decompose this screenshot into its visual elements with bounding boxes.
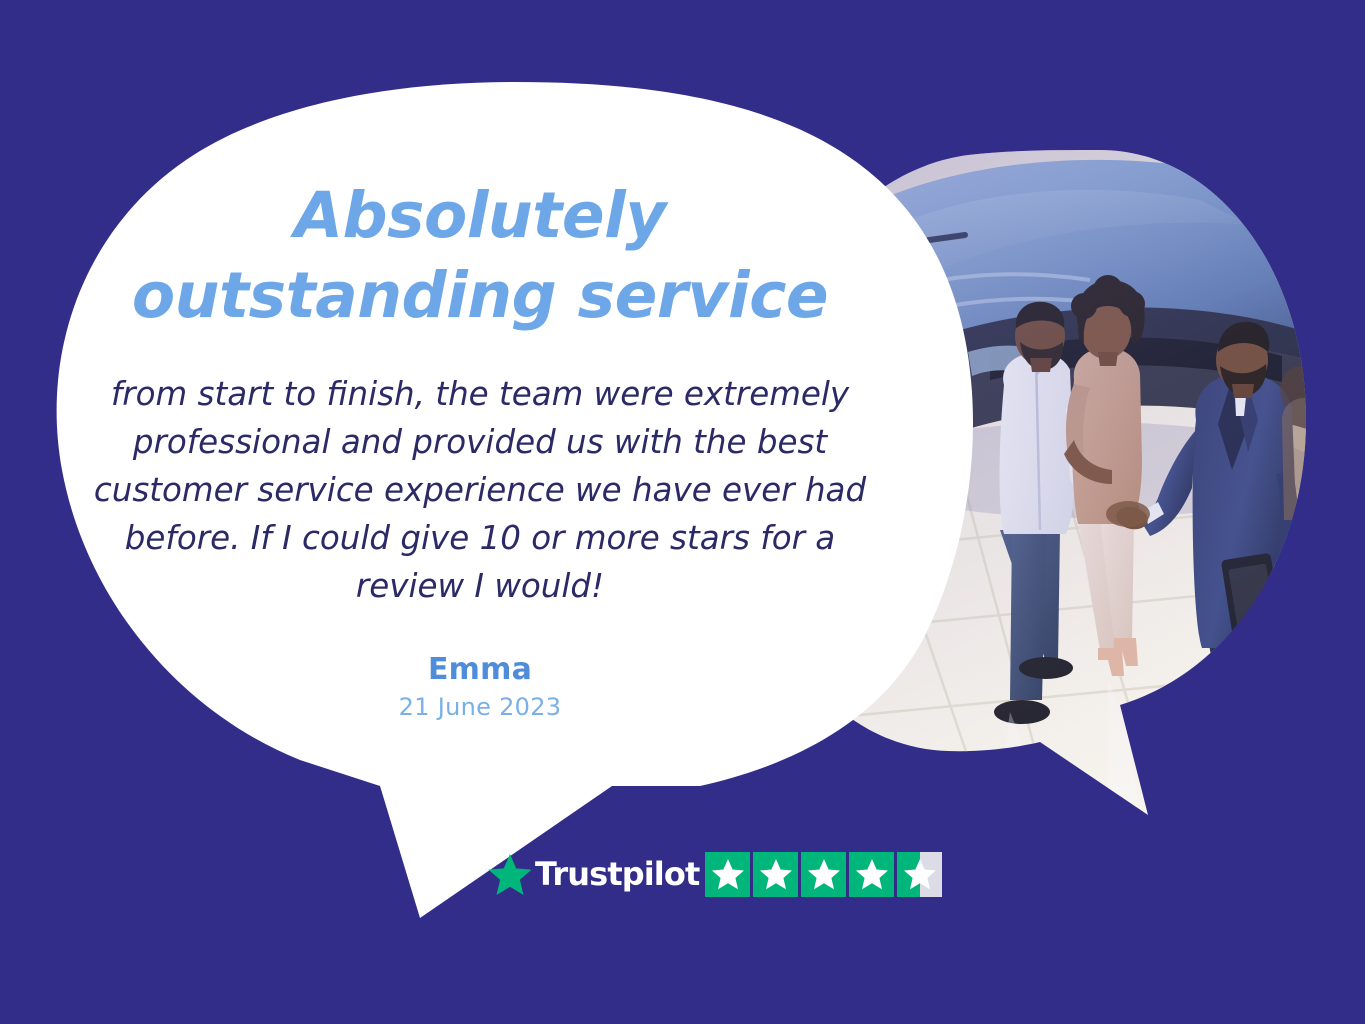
- review-body-text: from start to finish, the team were extr…: [85, 370, 875, 610]
- review-testimonial-graphic: Absolutely outstanding service from star…: [0, 0, 1365, 1024]
- trustpilot-star-3[interactable]: [801, 852, 846, 897]
- trustpilot-star-icon: [487, 852, 533, 896]
- review-date: 21 June 2023: [70, 692, 890, 722]
- trustpilot-logo[interactable]: Trustpilot: [487, 849, 699, 899]
- trustpilot-star-4[interactable]: [849, 852, 894, 897]
- review-headline: Absolutely outstanding service: [100, 176, 860, 336]
- trustpilot-star-5-half[interactable]: [897, 852, 942, 897]
- trustpilot-star-2[interactable]: [753, 852, 798, 897]
- trustpilot-wordmark: Trustpilot: [535, 858, 699, 890]
- review-quote-block: Absolutely outstanding service from star…: [70, 176, 890, 722]
- trustpilot-star-1[interactable]: [705, 852, 750, 897]
- reviewer-name: Emma: [70, 652, 890, 688]
- trustpilot-stars[interactable]: [705, 852, 942, 897]
- trustpilot-rating[interactable]: Trustpilot: [487, 849, 942, 899]
